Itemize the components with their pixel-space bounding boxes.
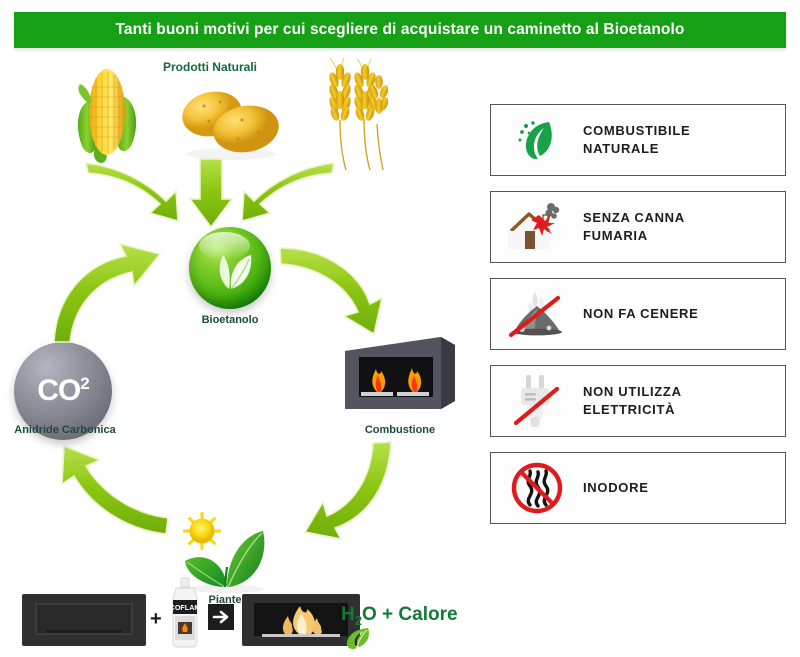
feature-box-senza-canna-fumaria[interactable]: SENZA CANNAFUMARIA xyxy=(490,191,786,263)
bioethanol-cycle-diagram: Prodotti Naturali xyxy=(0,52,480,572)
arrow-piante-to-co2 xyxy=(52,438,170,538)
page-title: Tanti buoni motivi per cui scegliere di … xyxy=(116,21,685,39)
ash-pile-crossed-icon xyxy=(491,279,583,349)
feature-list: COMBUSTIBILENATURALE SENZA CANNAFUMAR xyxy=(490,104,786,539)
ecoflame-bottle-icon: ECOFLAME xyxy=(169,578,201,648)
h2o-calore-label: H2O + Calore xyxy=(341,604,458,628)
feature-label: NON UTILIZZAELETTRICITÀ xyxy=(583,383,785,418)
arrow-sources-to-bioetanolo xyxy=(80,157,340,232)
feature-label: INODORE xyxy=(583,479,785,497)
fireplace-unlit-icon xyxy=(22,594,146,646)
fireplace-icon xyxy=(345,337,455,415)
arrow-bioetanolo-to-combustione xyxy=(278,242,388,347)
arrow-combustione-to-piante xyxy=(283,440,395,540)
feature-box-non-utilizza-elettricita[interactable]: NON UTILIZZAELETTRICITÀ xyxy=(490,365,786,437)
node-bioetanolo xyxy=(189,227,271,309)
arrow-right-icon xyxy=(208,604,234,630)
power-plug-crossed-icon xyxy=(491,366,583,436)
feature-box-combustibile-naturale[interactable]: COMBUSTIBILENATURALE xyxy=(490,104,786,176)
bottle-brand-text: ECOFLAME xyxy=(165,603,206,612)
leaf-icon xyxy=(491,105,583,175)
header-banner: Tanti buoni motivi per cui scegliere di … xyxy=(14,12,786,48)
house-chimney-icon xyxy=(491,192,583,262)
feature-label: NON FA CENERE xyxy=(583,305,785,323)
feature-label: COMBUSTIBILENATURALE xyxy=(583,122,785,157)
feature-label: SENZA CANNAFUMARIA xyxy=(583,209,785,244)
node-label-anidride-carbonica: Anidride Carbonica xyxy=(0,424,130,436)
arrow-co2-to-bioetanolo xyxy=(48,242,168,347)
plus-sign-1: + xyxy=(150,608,162,631)
small-leaf-icon xyxy=(344,626,372,650)
potatoes-icon xyxy=(176,86,286,161)
node-combustione xyxy=(345,337,455,412)
corn-icon xyxy=(72,62,142,167)
no-smell-icon xyxy=(491,453,583,523)
co2-value: CO2 xyxy=(37,374,88,408)
node-label-combustione: Combustione xyxy=(340,424,460,436)
leaf-sphere-icon xyxy=(189,227,271,309)
feature-box-non-fa-cenere[interactable]: NON FA CENERE xyxy=(490,278,786,350)
feature-box-inodore[interactable]: INODORE xyxy=(490,452,786,524)
